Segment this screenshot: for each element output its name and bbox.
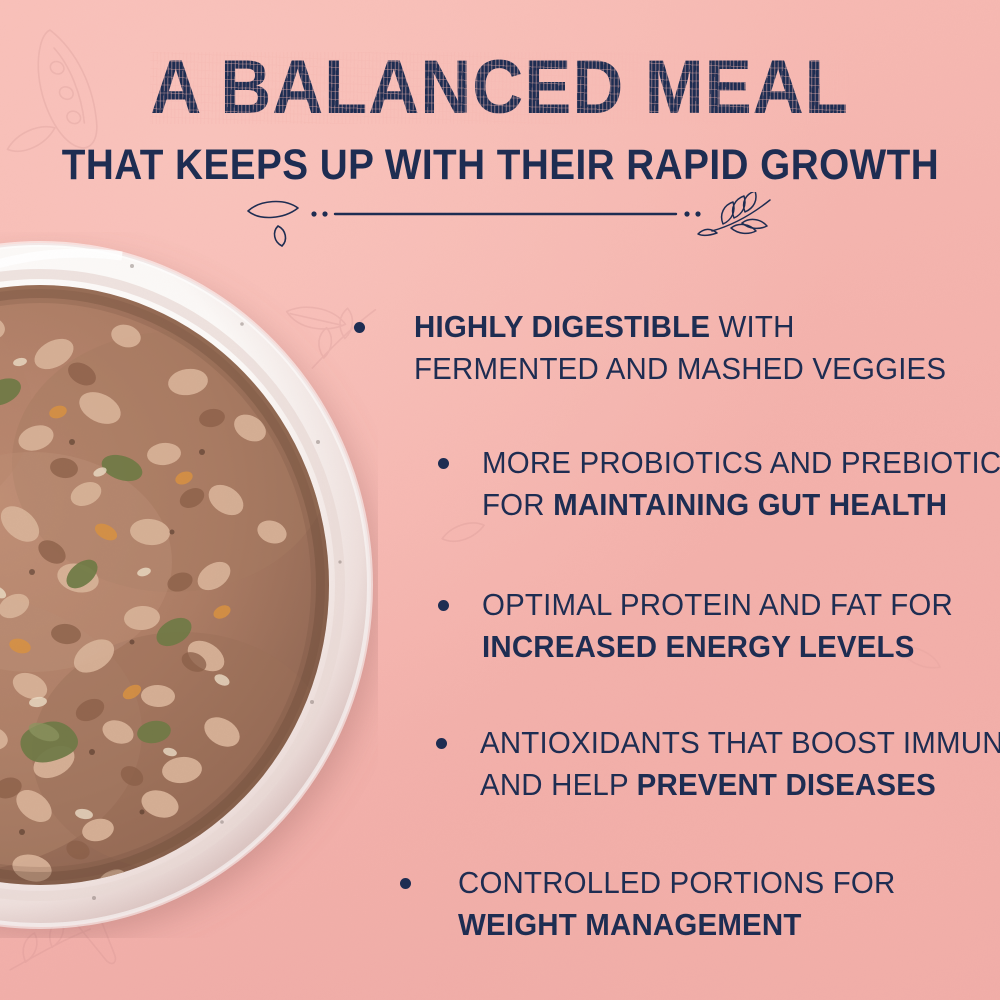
divider-dots-left [311,211,327,216]
benefit-text: FERMENTED AND MASHED VEGGIES [414,351,946,386]
benefit-line: OPTIMAL PROTEIN AND FAT FOR [482,584,953,626]
benefit-text: CONTROLLED PORTIONS FOR [458,865,895,900]
benefit-line: AND HELP PREVENT DISEASES [480,764,1000,806]
page-title-text: A BALANCED MEAL [151,45,849,130]
herb-sprig-watermark [5,915,93,970]
benefit-text: MORE PROBIOTICS AND PREBIOTICS [482,445,1000,480]
benefit-text: WITH [710,309,794,344]
leaf-ornament [248,202,298,246]
bullet-dot-icon [438,458,449,469]
page-subtitle: THAT KEEPS UP WITH THEIR RAPID GROWTH [0,141,1000,190]
benefit-text: OPTIMAL PROTEIN AND FAT FOR [482,587,953,622]
bullet-dot-icon [438,600,449,611]
benefit-line: INCREASED ENERGY LEVELS [482,626,953,668]
leaf-watermark [278,592,324,622]
benefit-text: ANTIOXIDANTS THAT BOOST IMMUNITY [480,725,1000,760]
page-title: A BALANCED MEAL [151,52,849,124]
benefit-emphasis: MAINTAINING GUT HEALTH [553,487,947,522]
benefit-line: FOR MAINTAINING GUT HEALTH [482,484,1000,526]
benefit-emphasis: WEIGHT MANAGEMENT [458,907,802,942]
benefit-line: CONTROLLED PORTIONS FOR [458,862,895,904]
benefit-text: FOR [482,487,553,522]
page-subtitle-text: THAT KEEPS UP WITH THEIR RAPID GROWTH [61,141,938,190]
benefit-line: WEIGHT MANAGEMENT [458,904,895,946]
bullet-dot-icon [354,322,365,333]
wheat-sprig-ornament [698,192,770,235]
benefit-text: AND HELP [480,767,637,802]
list-item[interactable]: MORE PROBIOTICS AND PREBIOTICS FOR MAINT… [440,442,1000,526]
benefit-line: FERMENTED AND MASHED VEGGIES [414,348,946,390]
bullet-dot-icon [400,878,411,889]
benefit-emphasis: INCREASED ENERGY LEVELS [482,629,915,664]
benefit-line: HIGHLY DIGESTIBLE WITH [414,306,946,348]
herb-sprig-watermark [2,491,111,565]
carrot-watermark [110,526,153,632]
benefit-line: MORE PROBIOTICS AND PREBIOTICS [482,442,1000,484]
carrot-watermark [53,873,126,972]
list-item[interactable]: OPTIMAL PROTEIN AND FAT FOR INCREASED EN… [440,584,978,668]
dog-food-bowl-image [0,232,378,938]
benefit-emphasis: HIGHLY DIGESTIBLE [414,309,710,344]
list-item[interactable]: HIGHLY DIGESTIBLE WITH FERMENTED AND MAS… [356,306,974,390]
bullet-dot-icon [436,738,447,749]
benefit-emphasis: PREVENT DISEASES [637,767,936,802]
list-item[interactable]: CONTROLLED PORTIONS FOR WEIGHT MANAGEMEN… [402,862,918,946]
benefit-line: ANTIOXIDANTS THAT BOOST IMMUNITY [480,722,1000,764]
decorative-divider [236,192,776,248]
leaf-watermark [284,300,347,336]
divider-dots-right [684,211,700,216]
promo-poster: A BALANCED MEAL THAT KEEPS UP WITH THEIR… [0,0,1000,1000]
headline-block: A BALANCED MEAL [0,52,1000,124]
list-item[interactable]: ANTIOXIDANTS THAT BOOST IMMUNITY AND HEL… [438,722,1000,806]
